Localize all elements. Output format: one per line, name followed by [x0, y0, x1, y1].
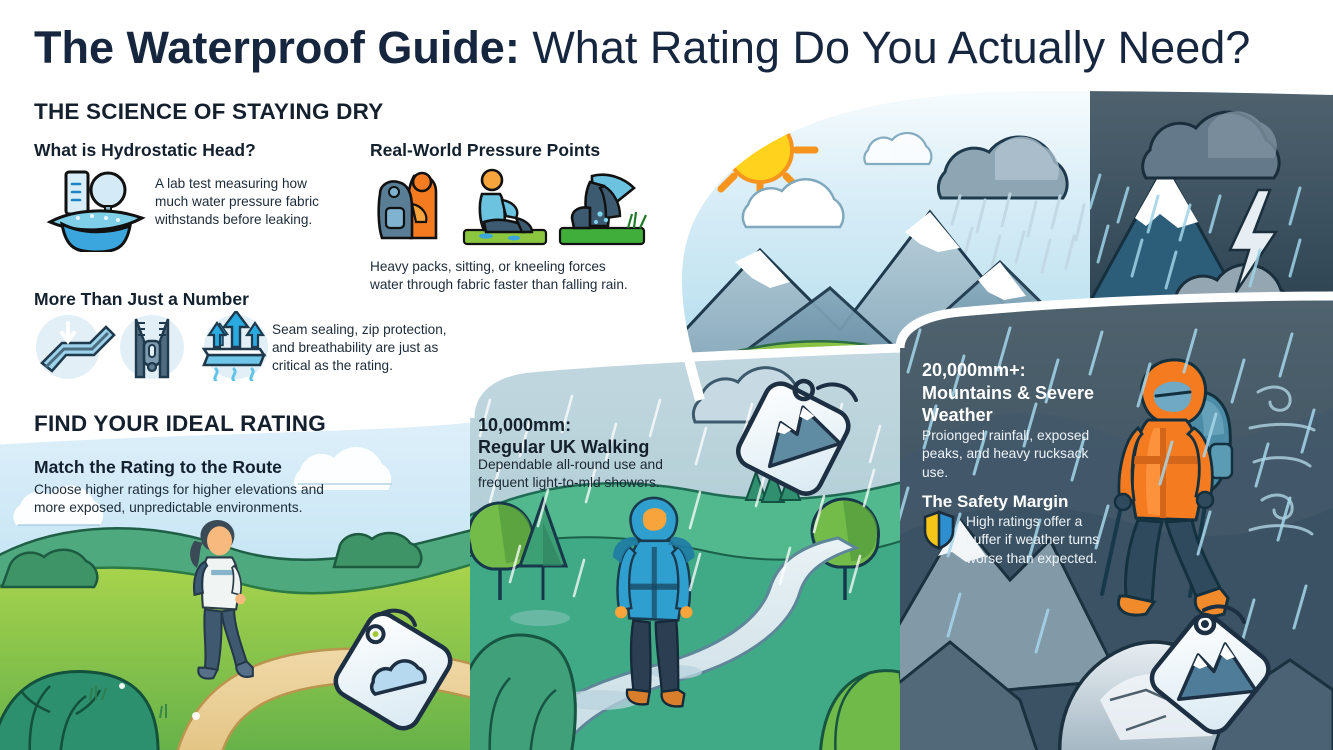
person-sitting-on-wet-ground-icon	[464, 170, 546, 244]
hydrostatic-heading: What is Hydrostatic Head?	[34, 140, 256, 161]
page-title: The Waterproof Guide: What Rating Do You…	[34, 24, 1324, 73]
storm-sky-scene	[1080, 80, 1333, 324]
shield-icon	[922, 510, 956, 555]
rating-high-heading: 20,000mm+: Mountains & Severe Weather	[922, 359, 1112, 427]
hiker-with-heavy-pack-icon	[379, 173, 436, 238]
rating-high-label: Mountains & Severe Weather	[922, 383, 1094, 426]
match-rating-body: Choose higher ratings for higher elevati…	[34, 481, 354, 518]
person-kneeling-on-grass-icon	[560, 175, 646, 244]
section-heading-science: THE SCIENCE OF STAYING DRY	[34, 99, 383, 125]
breathability-icon	[204, 311, 268, 381]
pressure-point-icons	[370, 168, 650, 253]
safety-margin-body: High ratings offer a buffer if weather t…	[966, 513, 1106, 568]
rating-high-value: 20,000mm+:	[922, 360, 1026, 380]
infographic-canvas: The Waterproof Guide: What Rating Do You…	[0, 0, 1333, 750]
safety-margin-heading: The Safety Margin	[922, 492, 1068, 512]
rating-mid-label: Regular UK Walking	[478, 437, 649, 457]
rating-mid-heading: 10,000mm: Regular UK Walking	[478, 414, 698, 459]
more-than-number-heading: More Than Just a Number	[34, 289, 249, 310]
more-than-number-icons	[34, 311, 274, 386]
rating-mid-value: 10,000mm:	[478, 415, 571, 435]
pressure-points-body: Heavy packs, sitting, or kneeling forces…	[370, 258, 640, 294]
match-rating-heading: Match the Rating to the Route	[34, 457, 282, 478]
hydrostatic-body: A lab test measuring how much water pres…	[155, 175, 333, 229]
section-heading-find: FIND YOUR IDEAL RATING	[34, 411, 326, 437]
pressure-points-heading: Real-World Pressure Points	[370, 140, 600, 161]
mid-panel-scene	[460, 340, 910, 750]
title-bold: The Waterproof Guide:	[34, 22, 520, 73]
flask-with-water-icon	[42, 168, 154, 257]
rating-mid-body: Dependable all-round use and frequent li…	[478, 456, 692, 493]
zip-protection-icon	[120, 315, 184, 379]
rating-high-body: Proionged rainfall, exposed peaks, and h…	[922, 427, 1108, 482]
title-light: What Rating Do You Actually Need?	[520, 22, 1250, 73]
more-than-number-body: Seam sealing, zip protection, and breath…	[272, 321, 472, 375]
seam-sealing-icon	[36, 315, 114, 379]
